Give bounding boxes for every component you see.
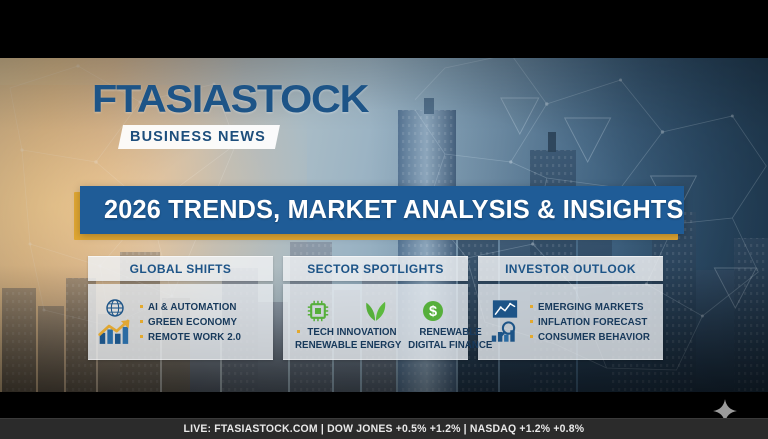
list-item-label: RENEWABLE	[419, 326, 481, 338]
globe-icon	[105, 298, 125, 318]
tagline-badge: BUSINESS NEWS	[118, 125, 280, 149]
headline-banner: 2026 TRENDS, MARKET ANALYSIS & INSIGHTS	[74, 186, 678, 234]
list-item: GREEN ECONOMY	[140, 316, 248, 328]
panel-icons	[95, 298, 135, 345]
list-item: INFLATION FORECAST	[530, 316, 659, 328]
letterbox-top	[0, 0, 768, 58]
list-item-label: RENEWABLE ENERGY	[295, 339, 401, 351]
panel-investor-outlook[interactable]: INVESTOR OUTLOOK	[478, 256, 663, 360]
panel-icons	[485, 299, 525, 344]
tagline-text: BUSINESS NEWS	[130, 129, 266, 145]
panel-global-shifts[interactable]: GLOBAL SHIFTS	[88, 256, 273, 360]
ticker-text: LIVE: FTASIASTOCK.COM | DOW JONES +0.5% …	[184, 423, 585, 435]
leaf-icon	[363, 298, 388, 323]
stock-ticker-bar[interactable]: LIVE: FTASIASTOCK.COM | DOW JONES +0.5% …	[0, 418, 768, 439]
panel-title: SECTOR SPOTLIGHTS	[307, 262, 444, 276]
svg-text:$: $	[429, 304, 437, 320]
list-item-label: TECH INNOVATION	[307, 326, 396, 338]
bullet-dot-icon	[530, 335, 533, 338]
brand-logo: FTASIASTOCK BUSINESS NEWS	[92, 80, 353, 149]
bullet-dot-icon	[530, 320, 533, 323]
panel-header: GLOBAL SHIFTS	[88, 256, 273, 281]
panel-sector-spotlights[interactable]: SECTOR SPOTLIGHTS	[283, 256, 468, 360]
bar-chart-growth-icon	[98, 319, 132, 345]
panel-header: INVESTOR OUTLOOK	[478, 256, 663, 281]
bullet-dot-icon	[297, 330, 300, 333]
panel-header: SECTOR SPOTLIGHTS	[283, 256, 468, 281]
headline-blue-bar: 2026 TRENDS, MARKET ANALYSIS & INSIGHTS	[80, 186, 684, 234]
bullet-dot-icon	[530, 305, 533, 308]
microchip-icon	[306, 299, 330, 323]
line-chart-icon	[492, 299, 518, 319]
panel-title: GLOBAL SHIFTS	[130, 262, 232, 276]
list-item: EMERGING MARKETS	[530, 301, 659, 313]
panel-body: AI & AUTOMATION GREEN ECONOMY REMOTE WOR…	[88, 284, 273, 360]
panel-body: EMERGING MARKETS INFLATION FORECAST CONS…	[478, 284, 663, 360]
list-item-label: DIGITAL FINANCE	[409, 339, 493, 351]
logo-wordmark: FTASIASTOCK	[92, 80, 368, 119]
panel-body: $ TECH INNOVATION RENEWABLE ENERGY RENEW…	[283, 284, 468, 360]
panel-icons: $	[289, 293, 462, 323]
list-item: AI & AUTOMATION	[140, 301, 248, 313]
list-item: CONSUMER BEHAVIOR	[530, 331, 659, 343]
magnifier-bars-icon	[490, 320, 520, 344]
sector-label-column-1: TECH INNOVATION RENEWABLE ENERGY	[291, 326, 405, 351]
list-item-label: CONSUMER BEHAVIOR	[538, 331, 650, 343]
list-item-label: REMOTE WORK 2.0	[148, 331, 241, 343]
list-item-label: EMERGING MARKETS	[538, 301, 644, 313]
bullet-dot-icon	[140, 305, 143, 308]
panel-bullet-list: EMERGING MARKETS INFLATION FORECAST CONS…	[525, 301, 659, 343]
broadcast-graphic: FTASIASTOCK BUSINESS NEWS 2026 TRENDS, M…	[0, 0, 768, 439]
panel-bullet-list: AI & AUTOMATION GREEN ECONOMY REMOTE WOR…	[135, 301, 248, 343]
list-item: TECH INNOVATION	[297, 326, 400, 338]
info-panels: GLOBAL SHIFTS	[88, 256, 688, 360]
list-item: REMOTE WORK 2.0	[140, 331, 248, 343]
panel-title: INVESTOR OUTLOOK	[505, 262, 636, 276]
panel-labels: TECH INNOVATION RENEWABLE ENERGY RENEWAB…	[289, 326, 462, 351]
list-item-label: GREEN ECONOMY	[148, 316, 237, 328]
list-item-label: INFLATION FORECAST	[538, 316, 647, 328]
bullet-dot-icon	[140, 335, 143, 338]
headline-text: 2026 TRENDS, MARKET ANALYSIS & INSIGHTS	[104, 196, 684, 225]
dollar-circle-icon: $	[421, 299, 445, 323]
list-item-label: AI & AUTOMATION	[148, 301, 237, 313]
bullet-dot-icon	[140, 320, 143, 323]
